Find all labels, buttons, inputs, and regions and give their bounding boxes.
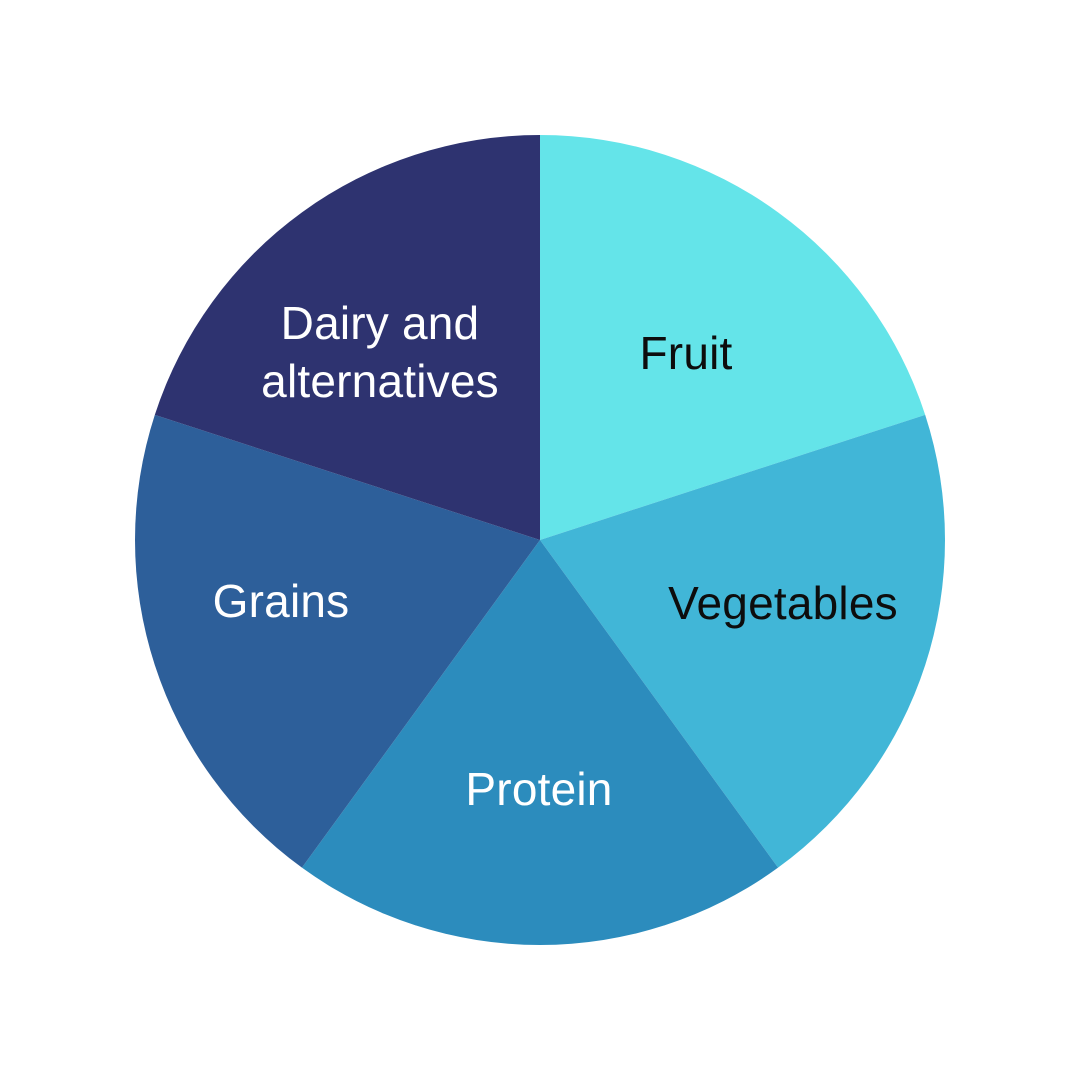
pie-slice-label-line: alternatives [261,355,499,407]
pie-slice-label-fruit: Fruit [640,327,733,379]
pie-slice-label-line: Dairy and [281,297,480,349]
pie-slice-label-line: Fruit [640,327,733,379]
pie-chart-svg: FruitVegetablesProteinGrainsDairy andalt… [0,0,1080,1080]
pie-slice-label-line: Vegetables [668,577,898,629]
pie-slices-group [135,135,945,945]
pie-chart-figure: FruitVegetablesProteinGrainsDairy andalt… [0,0,1080,1080]
pie-slice-label-line: Protein [465,763,612,815]
pie-slice-label-grains: Grains [213,575,350,627]
pie-slice-label-vegetables: Vegetables [668,577,898,629]
pie-slice-label-protein: Protein [465,763,612,815]
pie-slice-label-line: Grains [213,575,350,627]
